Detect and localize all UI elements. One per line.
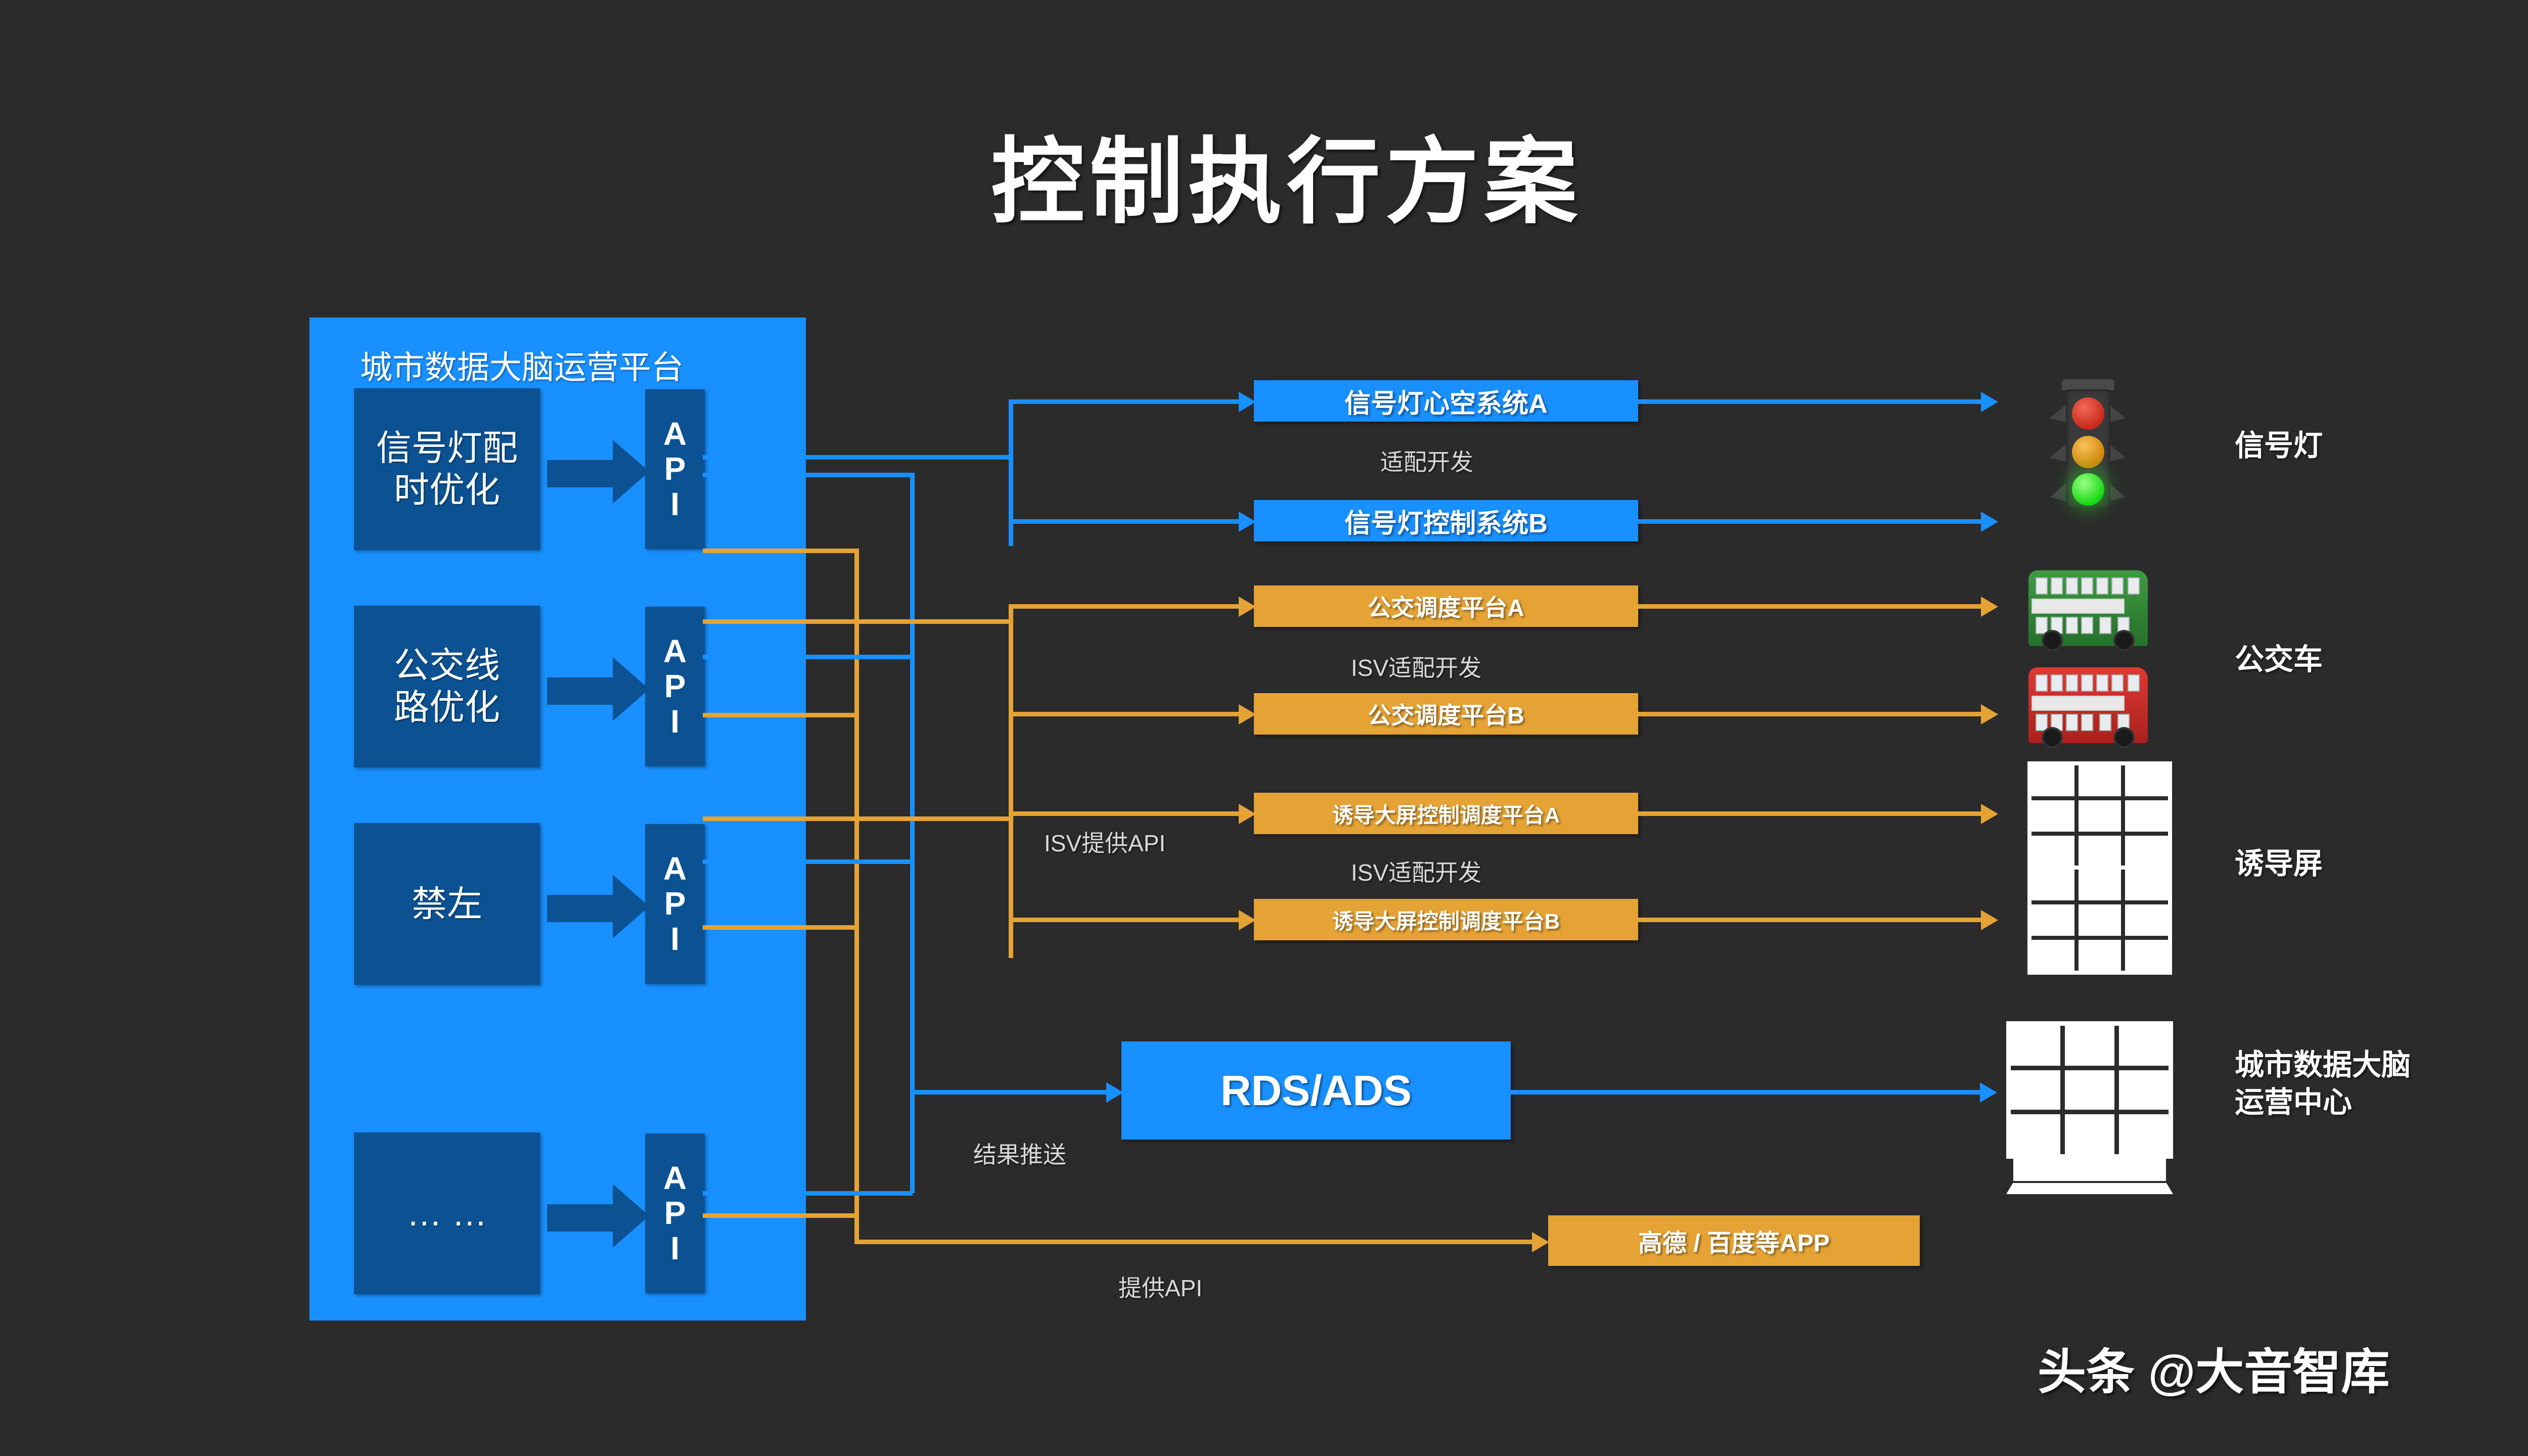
- wire-screen-feed: [854, 816, 1011, 821]
- api-block-2[interactable]: A P I: [645, 607, 705, 766]
- target-label: 诱导大屏控制调度平台B: [1332, 904, 1560, 935]
- target-guidance-screen-a[interactable]: 诱导大屏控制调度平台A: [1254, 793, 1638, 834]
- source-box-signal-timing[interactable]: 信号灯配 时优化: [354, 388, 540, 550]
- target-map-apps[interactable]: 高德 / 百度等APP: [1548, 1215, 1920, 1266]
- wire-api2-orange-b: [703, 713, 857, 717]
- page-title: 控制执行方案: [991, 106, 1583, 242]
- wire-screen-a-out: [1638, 811, 1982, 816]
- wire-api4-orange: [703, 1213, 857, 1218]
- target-label: 信号灯控制系统B: [1344, 502, 1548, 540]
- traffic-light-icon: [2053, 379, 2124, 516]
- guidance-screen-icon-bottom: [2027, 866, 2172, 975]
- device-label-operations-center: 城市数据大脑 运营中心: [2235, 1046, 2411, 1121]
- api-letter: I: [670, 704, 680, 739]
- target-bus-dispatch-b[interactable]: 公交调度平台B: [1254, 693, 1638, 735]
- target-label: 信号灯心空系统A: [1344, 382, 1548, 420]
- api-block-3[interactable]: A P I: [645, 824, 705, 984]
- api-letter: P: [664, 669, 686, 704]
- source-box-others[interactable]: … …: [354, 1132, 540, 1294]
- api-block-1[interactable]: A P I: [645, 389, 705, 549]
- source-box-bus-route[interactable]: 公交线 路优化: [354, 606, 540, 767]
- trunk-orange-vertical: [854, 549, 859, 1244]
- device-label-bus: 公交车: [2235, 641, 2323, 678]
- bus-icon-red: [2028, 667, 2148, 743]
- target-bus-dispatch-a[interactable]: 公交调度平台A: [1254, 585, 1638, 627]
- arrowhead-screen-b: [1239, 910, 1256, 930]
- api-letter: I: [670, 1231, 680, 1266]
- traffic-light-amber: [2072, 436, 2104, 468]
- traffic-light-green: [2072, 473, 2104, 506]
- arrowhead-bus-b: [1239, 704, 1256, 724]
- arrowhead-signal-b: [1239, 512, 1256, 532]
- fork-bus-vertical: [1009, 604, 1013, 958]
- target-label: 高德 / 百度等APP: [1638, 1223, 1830, 1258]
- arrowhead-rds-in: [1106, 1082, 1123, 1103]
- arrowhead-screen-a: [1239, 804, 1256, 824]
- device-label-traffic-light: 信号灯: [2235, 427, 2323, 465]
- wire-screen-b-out: [1638, 918, 1982, 922]
- flow-arrow-2: [547, 669, 648, 702]
- wire-screen-a: [1009, 811, 1239, 816]
- arrowhead-screen-b-out: [1981, 910, 1998, 930]
- wire-bus-a: [1009, 604, 1239, 609]
- arrowhead-signal-a-out: [1981, 392, 1998, 412]
- api-letter: I: [670, 922, 680, 957]
- api-letter: P: [664, 886, 686, 921]
- arrowhead-signal-a: [1239, 392, 1256, 412]
- flow-arrow-3: [547, 887, 648, 919]
- arrowhead-bus-a-out: [1981, 597, 1998, 617]
- trunk-blue-vertical: [910, 473, 915, 1193]
- arrowhead-app-in: [1532, 1232, 1549, 1252]
- wire-api1-blue-b: [703, 473, 913, 477]
- caption-signal-note: 适配开发: [1380, 444, 1473, 477]
- api-letter: I: [670, 487, 680, 522]
- caption-screen-note: ISV适配开发: [1351, 854, 1481, 888]
- platform-title: 城市数据大脑运营平台: [360, 342, 684, 388]
- target-label: RDS/ADS: [1221, 1066, 1412, 1115]
- traffic-light-red: [2072, 397, 2104, 430]
- wire-api3-orange-a: [703, 816, 857, 821]
- caption-bus-note: ISV适配开发: [1351, 650, 1481, 683]
- wire-orange-to-app-row: [854, 1240, 1532, 1244]
- target-signal-system-b[interactable]: 信号灯控制系统B: [1254, 500, 1638, 541]
- wire-rds-out: [1511, 1090, 1981, 1095]
- target-signal-system-a[interactable]: 信号灯心空系统A: [1254, 380, 1638, 422]
- wire-signal-a: [1009, 399, 1239, 404]
- wire-api4-blue: [703, 1191, 913, 1196]
- wire-screen-b: [1009, 918, 1239, 922]
- arrowhead-signal-b-out: [1981, 512, 1998, 532]
- flow-arrow-1: [547, 452, 648, 484]
- target-rds-ads[interactable]: RDS/ADS: [1121, 1041, 1511, 1140]
- wire-api1-orange: [703, 549, 857, 553]
- caption-screen-api-note: ISV提供API: [1044, 825, 1165, 858]
- flow-arrow-4: [547, 1196, 648, 1228]
- watermark: 头条 @大音智库: [2038, 1333, 2389, 1403]
- wire-signal-b-out: [1638, 519, 1982, 524]
- api-letter: A: [663, 851, 687, 886]
- api-letter: P: [664, 1196, 686, 1231]
- arrowhead-screen-a-out: [1981, 804, 1998, 824]
- wire-api2-orange-a: [703, 619, 857, 624]
- source-box-no-left-turn[interactable]: 禁左: [354, 823, 540, 985]
- wire-api2-blue: [703, 655, 913, 659]
- slide-canvas: 控制执行方案 城市数据大脑运营平台 信号灯配 时优化 A P I 公交线 路优化…: [0, 0, 2528, 1456]
- wire-signal-feed: [910, 455, 1011, 460]
- target-label: 诱导大屏控制调度平台A: [1332, 798, 1560, 829]
- source-box-label: … …: [407, 1193, 487, 1235]
- api-letter: A: [663, 417, 687, 451]
- caption-rds-note: 结果推送: [973, 1136, 1066, 1170]
- wire-api3-blue: [703, 859, 913, 864]
- wire-rds-feed: [910, 1090, 1107, 1095]
- arrowhead-bus-b-out: [1981, 704, 1998, 724]
- wire-bus-b: [1009, 712, 1239, 716]
- target-label: 公交调度平台A: [1368, 589, 1524, 623]
- arrowhead-rds-out: [1980, 1082, 1997, 1103]
- source-box-label: 公交线 路优化: [394, 645, 500, 728]
- bus-icon-green: [2028, 570, 2148, 646]
- api-letter: A: [663, 1161, 687, 1196]
- arrowhead-bus-a: [1239, 597, 1256, 617]
- target-guidance-screen-b[interactable]: 诱导大屏控制调度平台B: [1254, 899, 1638, 940]
- device-label-guidance-screen: 诱导屏: [2235, 845, 2323, 883]
- api-letter: A: [663, 634, 687, 669]
- wire-api3-orange-b: [703, 925, 857, 930]
- wire-signal-a-out: [1638, 399, 1982, 404]
- guidance-screen-icon-top: [2027, 761, 2172, 871]
- wire-bus-b-out: [1638, 712, 1982, 716]
- fork-signal-vertical: [1009, 399, 1013, 546]
- target-label: 公交调度平台B: [1368, 697, 1524, 731]
- api-block-4[interactable]: A P I: [645, 1133, 705, 1293]
- api-letter: P: [664, 451, 686, 486]
- wire-api1-blue-a: [703, 455, 915, 460]
- wire-signal-b: [1009, 519, 1239, 524]
- source-box-label: 信号灯配 时优化: [376, 427, 518, 511]
- wire-bus-feed: [854, 619, 1011, 624]
- operations-center-icon: [2006, 1021, 2173, 1193]
- caption-app-note: 提供API: [1118, 1270, 1202, 1303]
- source-box-label: 禁左: [412, 883, 482, 925]
- wire-bus-a-out: [1638, 604, 1982, 609]
